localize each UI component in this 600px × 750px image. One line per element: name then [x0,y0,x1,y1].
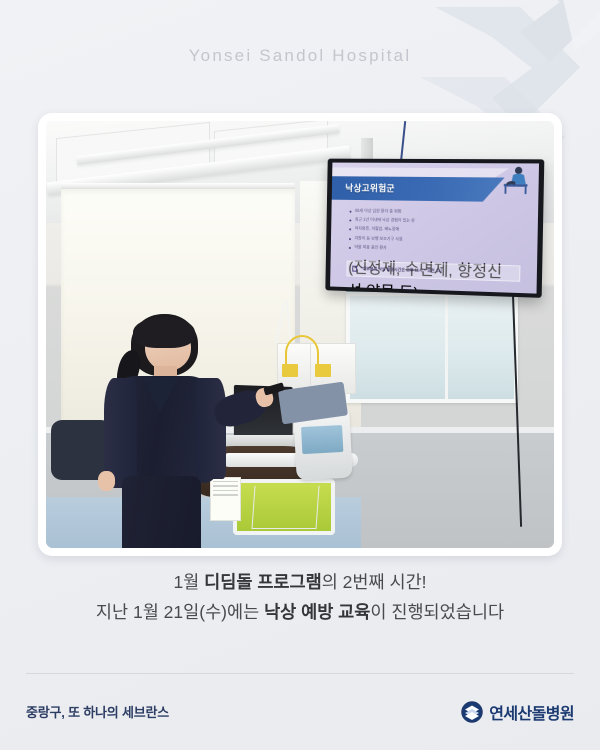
bullet-dot-icon [349,238,351,240]
caption-text: 1월 [173,572,204,592]
brand-lockup[interactable]: 연세산돌병원 [461,700,574,724]
caption-text: 의 2번째 시간! [322,572,427,592]
brand-name: 연세산돌병원 [489,700,574,724]
caption-bold: 낙상 예방 교육 [264,602,370,622]
wall-mounted-display: 낙상고위험군 65세 이상 입원 환자 중 위험 [325,159,544,298]
slide-bullet-item: 어지럼증, 저혈압, 배뇨장애 [349,226,514,235]
slide-bullet-text: 최근 1년 이내에 낙상 경험이 있는 분 [355,217,415,224]
bullet-dot-icon [349,229,351,231]
caption-block: 1월 디딤돌 프로그램의 2번째 시간! 지난 1월 21일(수)에는 낙상 예… [0,567,600,627]
yellow-tag [282,364,298,377]
photo-card: 낙상고위험군 65세 이상 입원 환자 중 위험 [38,113,562,556]
presenter-figure [92,309,244,548]
pump-screen [301,425,344,454]
caption-bold: 디딤돌 프로그램 [204,572,322,592]
window-mullion [445,296,448,399]
header: Yonsei Sandol Hospital [0,0,600,112]
checkbox-icon [352,267,357,273]
yellow-tag [315,364,331,377]
bullet-dot-icon [349,211,351,213]
slide-title: 낙상고위험군 [345,182,395,195]
bullet-dot-icon [348,248,350,250]
presenter-bangs [133,317,195,348]
caption-line-2: 지난 1월 21일(수)에는 낙상 예방 교육이 진행되었습니다 [0,597,600,627]
stacked-layers-logo-icon [461,701,483,723]
slide-bullet-text: 지팡이 등 보행 보조기구 사용 [354,236,402,243]
caption-text: 이 진행되었습니다 [370,602,504,622]
page-root: Yonsei Sandol Hospital [0,0,600,750]
slide-note-text: *대부분의 낙상 발생시간은 오후 11시 ~ 오전 1시 [361,267,442,275]
caption-text: 지난 1월 21일(수)에는 [96,602,264,622]
slide-bullet-item: 최근 1년 이내에 낙상 경험이 있는 분 [349,217,514,226]
fall-prevention-education-photo: 낙상고위험군 65세 이상 입원 환자 중 위험 [46,121,554,548]
slide-bullet-text: 65세 이상 입원 환자 중 위험 [355,208,401,215]
footer-tagline: 중랑구, 또 하나의 세브란스 [26,702,169,721]
bullet-dot-icon [349,220,351,222]
presenter-cardigan-right [195,378,225,478]
bed-hanger [251,486,319,529]
caption-line-1: 1월 디딤돌 프로그램의 2번째 시간! [0,567,600,597]
slide-bullet-text: 어지럼증, 저혈압, 배뇨장애 [355,226,400,233]
footer: 중랑구, 또 하나의 세브란스 연세산돌병원 [0,673,600,750]
slide-bullet-text: 약물 복용 중인 환자 [354,245,386,252]
page-title: Yonsei Sandol Hospital [189,46,412,66]
slide-title-banner: 낙상고위험군 [332,177,505,203]
presenter-hand-left [98,471,115,490]
room-window [346,292,519,403]
presenter-legs [122,476,201,548]
caregiver-bedside-icon [498,163,535,199]
presentation-slide: 낙상고위험군 65세 이상 입원 환자 중 위험 [330,163,539,294]
slide-bullet-item: 65세 이상 입원 환자 중 위험 [349,208,515,217]
